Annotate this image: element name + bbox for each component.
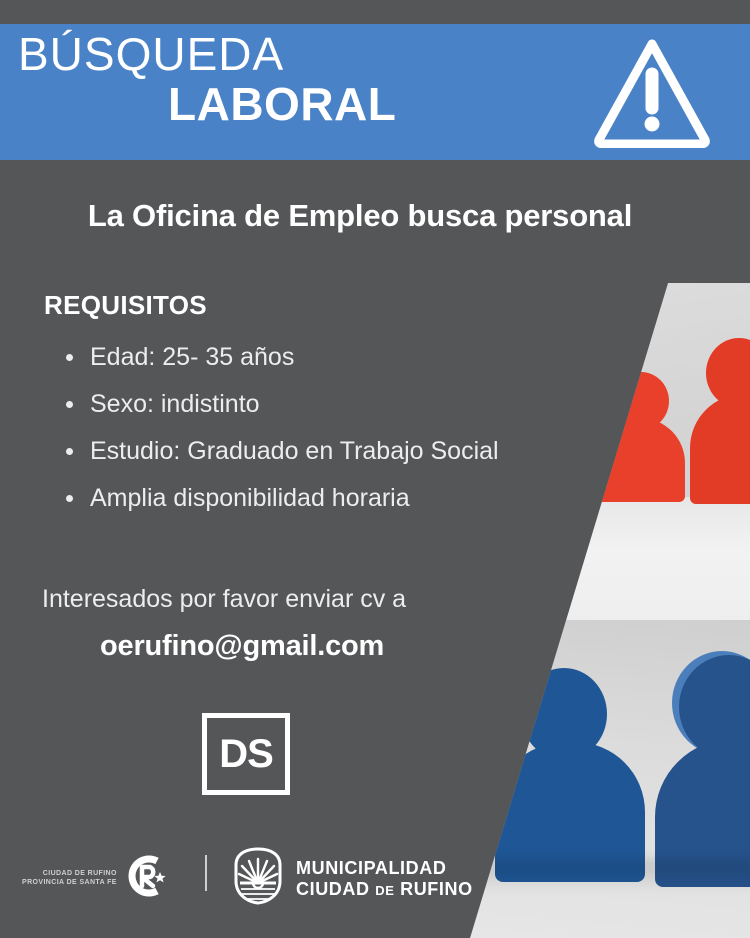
municipality-rufino-word: RUFINO: [400, 879, 473, 899]
requirements-list: Edad: 25- 35 años Sexo: indistinto Estud…: [62, 334, 499, 522]
rufino-brand: CIUDAD DE RUFINO PROVINCIA DE SANTA FE: [22, 853, 169, 904]
ds-logo-monogram: DS: [219, 734, 273, 774]
municipal-crest-icon: [232, 847, 284, 910]
circular-r-star-icon: [123, 853, 169, 904]
rufino-brand-text: CIUDAD DE RUFINO PROVINCIA DE SANTA FE: [22, 870, 117, 888]
page-title: La Oficina de Empleo busca personal: [0, 198, 720, 234]
list-item: Amplia disponibilidad horaria: [62, 475, 499, 522]
municipality-text: MUNICIPALIDAD CIUDAD DE RUFINO: [296, 858, 473, 898]
footer-divider: [205, 855, 207, 891]
ds-logo: DS: [202, 713, 290, 795]
list-item: Edad: 25- 35 años: [62, 334, 499, 381]
rufino-line1: CIUDAD DE RUFINO: [22, 870, 117, 879]
municipality-line2: CIUDAD DE RUFINO: [296, 879, 473, 899]
rufino-line2: PROVINCIA DE SANTA FE: [22, 879, 117, 888]
list-item: Sexo: indistinto: [62, 381, 499, 428]
job-posting-poster: BÚSQUEDA LABORAL La Oficina de Empleo bu…: [0, 0, 750, 938]
contact-email[interactable]: oerufino@gmail.com: [100, 630, 384, 663]
footer: CIUDAD DE RUFINO PROVINCIA DE SANTA FE: [0, 845, 750, 907]
contact-instruction: Interesados por favor enviar cv a: [42, 585, 406, 614]
poster-content: La Oficina de Empleo busca personal REQU…: [0, 0, 750, 938]
list-item: Estudio: Graduado en Trabajo Social: [62, 428, 499, 475]
municipality-city-word: CIUDAD: [296, 879, 370, 899]
municipality-brand: MUNICIPALIDAD CIUDAD DE RUFINO: [232, 847, 473, 910]
requirements-heading: REQUISITOS: [44, 290, 207, 321]
municipality-de-word: DE: [375, 883, 394, 898]
municipality-line1: MUNICIPALIDAD: [296, 858, 473, 878]
